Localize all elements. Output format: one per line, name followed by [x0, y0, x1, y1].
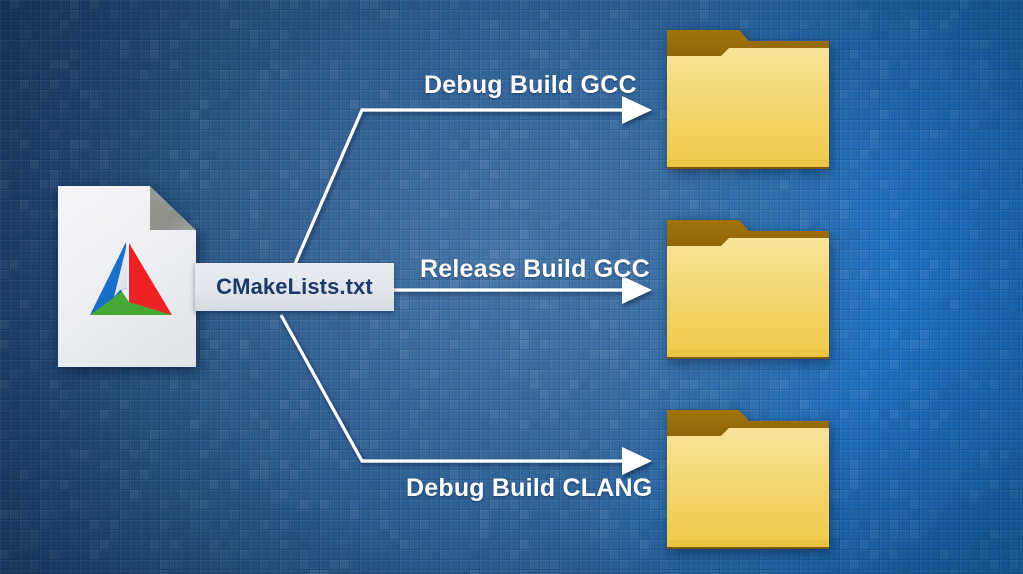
cmakelists-filename-plate[interactable]: CMakeLists.txt [195, 263, 394, 311]
document-folded-corner [150, 186, 196, 230]
cmake-logo-icon [80, 236, 176, 322]
folder-icon [665, 404, 831, 552]
cmakelists-file-icon[interactable] [58, 186, 196, 367]
arrow-debug-clang [281, 315, 652, 475]
arrow-label-release-gcc: Release Build GCC [420, 255, 650, 284]
output-folder-release-gcc[interactable] [665, 214, 831, 362]
diagram-canvas: Debug Build GCC Release Build GCC Debug … [0, 0, 1023, 574]
output-folder-debug-clang[interactable] [665, 404, 831, 552]
output-folder-debug-gcc[interactable] [665, 24, 831, 172]
folder-icon [665, 24, 831, 172]
cmakelists-filename-text: CMakeLists.txt [216, 274, 373, 300]
arrow-label-debug-gcc: Debug Build GCC [424, 71, 637, 100]
arrow-label-debug-clang: Debug Build CLANG [406, 474, 652, 503]
folder-icon [665, 214, 831, 362]
